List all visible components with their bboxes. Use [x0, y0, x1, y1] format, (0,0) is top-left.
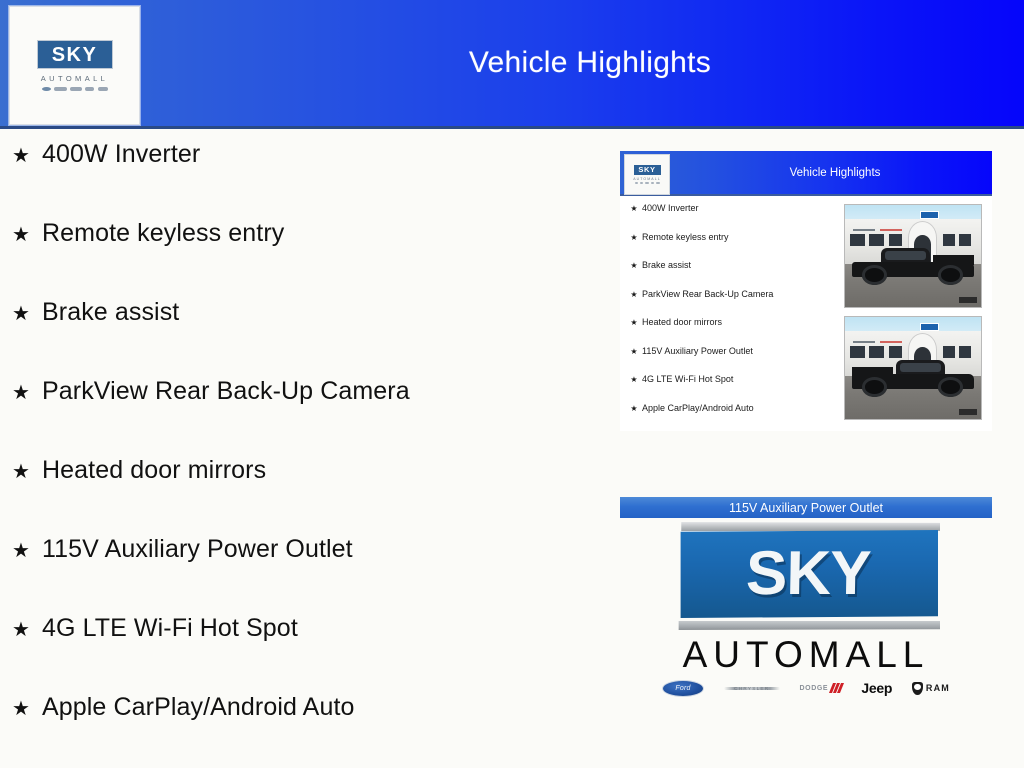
list-item-label: Apple CarPlay/Android Auto: [642, 403, 754, 413]
star-bullet-icon: ★: [626, 290, 642, 299]
vehicle-photo-rear-side-view[interactable]: [844, 316, 982, 420]
list-item: ★ 4G LTE Wi-Fi Hot Spot: [626, 374, 846, 403]
list-item-label: 115V Auxiliary Power Outlet: [642, 346, 753, 356]
star-bullet-icon: ★: [626, 375, 642, 384]
dealership-sky-sign-icon: [920, 211, 939, 219]
sign-top-rail: [676, 522, 940, 531]
list-item-label: 115V Auxiliary Power Outlet: [42, 535, 353, 564]
list-item: ★ Apple CarPlay/Android Auto: [0, 693, 600, 772]
feature-callout-panel: 115V Auxiliary Power Outlet SKY AUTOMALL…: [620, 497, 992, 696]
brand-badge-ford: Ford: [662, 680, 704, 696]
star-bullet-icon: ★: [0, 462, 42, 482]
building-window: [889, 234, 903, 246]
list-item: ★ 115V Auxiliary Power Outlet: [0, 535, 600, 614]
pickup-truck: [852, 362, 974, 399]
list-item-label: Remote keyless entry: [642, 232, 729, 242]
building-window: [850, 234, 865, 246]
thumbnail-highlights-list: ★ 400W Inverter ★ Remote keyless entry ★…: [626, 203, 846, 431]
ram-wordmark: RAM: [926, 683, 950, 693]
list-item-label: Brake assist: [42, 298, 179, 327]
sky-wordmark: SKY: [634, 165, 661, 175]
building-window: [959, 346, 971, 358]
list-item-label: Heated door mirrors: [642, 317, 722, 327]
ram-head-icon: [912, 682, 923, 695]
list-item-label: 400W Inverter: [642, 203, 699, 213]
automall-wordmark: AUTOMALL: [633, 177, 661, 181]
list-item-label: 4G LTE Wi-Fi Hot Spot: [42, 614, 298, 643]
thumbnail-title: Vehicle Highlights: [690, 151, 980, 194]
building-sign-strip: [880, 229, 902, 232]
dodge-stripes-icon: [829, 683, 844, 693]
jeep-logo-icon: Jeep: [861, 680, 892, 696]
automall-wordmark: AUTOMALL: [683, 636, 930, 673]
building-window: [889, 346, 903, 358]
list-item: ★ Apple CarPlay/Android Auto: [626, 403, 846, 432]
star-bullet-icon: ★: [626, 204, 642, 213]
building-sign-strip: [880, 341, 902, 344]
brand-badges-row: Ford CHRYSLER DODGE Jeep: [662, 680, 950, 696]
building-window: [869, 234, 884, 246]
brand-badge-ram: RAM: [912, 680, 950, 696]
ram-logo-icon: RAM: [912, 682, 950, 695]
list-item: ★ ParkView Rear Back-Up Camera: [626, 289, 846, 318]
list-item-label: ParkView Rear Back-Up Camera: [42, 377, 410, 406]
building-sign-strip: [853, 341, 875, 344]
brand-badges-strip-icon: [635, 182, 660, 184]
sky-automall-sign: SKY: [676, 522, 940, 630]
chrysler-logo-icon: CHRYSLER: [724, 684, 780, 693]
list-item-label: Heated door mirrors: [42, 456, 266, 485]
list-item-label: Remote keyless entry: [42, 219, 284, 248]
list-item: ★ 400W Inverter: [0, 140, 600, 219]
list-item: ★ Heated door mirrors: [0, 456, 600, 535]
star-bullet-icon: ★: [0, 383, 42, 403]
automall-wordmark: AUTOMALL: [41, 74, 109, 83]
building-window: [959, 234, 971, 246]
star-bullet-icon: ★: [626, 261, 642, 270]
brand-badge-chrysler: CHRYSLER: [724, 680, 780, 696]
slide-header: SKY AUTOMALL Vehicle Highlights: [0, 0, 1024, 129]
star-bullet-icon: ★: [0, 225, 42, 245]
star-bullet-icon: ★: [0, 541, 42, 561]
vehicle-highlights-list: ★ 400W Inverter ★ Remote keyless entry ★…: [0, 140, 600, 772]
thumbnail-dealer-logo-card: SKY AUTOMALL: [624, 154, 670, 195]
dealer-logo-card: SKY AUTOMALL: [9, 6, 140, 125]
star-bullet-icon: ★: [626, 233, 642, 242]
truck-wheel: [862, 377, 888, 397]
dodge-logo-icon: DODGE: [800, 683, 842, 693]
building-window: [943, 234, 955, 246]
chrysler-wordmark: CHRYSLER: [734, 686, 769, 691]
list-item-label: 400W Inverter: [42, 140, 200, 169]
list-item-label: Brake assist: [642, 260, 691, 270]
star-bullet-icon: ★: [0, 620, 42, 640]
sky-wordmark: SKY: [37, 40, 113, 69]
list-item: ★ ParkView Rear Back-Up Camera: [0, 377, 600, 456]
list-item: ★ 400W Inverter: [626, 203, 846, 232]
truck-wheel: [862, 265, 888, 285]
building-sign-strip: [853, 229, 875, 232]
brand-badges-strip-icon: [42, 86, 108, 91]
vehicle-photo-side-view[interactable]: [844, 204, 982, 308]
list-item-label: 4G LTE Wi-Fi Hot Spot: [642, 374, 733, 384]
truck-wheel: [938, 377, 964, 397]
star-bullet-icon: ★: [0, 146, 42, 166]
slide-thumbnail-preview[interactable]: SKY AUTOMALL Vehicle Highlights ★ 400W I…: [620, 151, 992, 431]
photo-watermark: [959, 297, 977, 303]
sign-bottom-rail: [676, 621, 940, 630]
building-window: [850, 346, 865, 358]
star-bullet-icon: ★: [626, 318, 642, 327]
dealer-brand-block: SKY AUTOMALL Ford CHRYSLER DODGE: [620, 522, 992, 696]
star-bullet-icon: ★: [0, 699, 42, 719]
sky-wordmark: SKY: [745, 543, 871, 605]
sign-face: SKY: [678, 530, 938, 618]
list-item: ★ 115V Auxiliary Power Outlet: [626, 346, 846, 375]
list-item: ★ Remote keyless entry: [626, 232, 846, 261]
pickup-truck: [852, 250, 974, 287]
dodge-wordmark: DODGE: [800, 685, 829, 692]
truck-wheel: [938, 265, 964, 285]
brand-badge-jeep: Jeep: [861, 680, 892, 696]
list-item: ★ Heated door mirrors: [626, 317, 846, 346]
ford-logo-icon: Ford: [662, 680, 704, 697]
list-item: ★ Brake assist: [0, 298, 600, 377]
list-item: ★ Remote keyless entry: [0, 219, 600, 298]
building-window: [943, 346, 955, 358]
list-item: ★ Brake assist: [626, 260, 846, 289]
feature-banner-label: 115V Auxiliary Power Outlet: [620, 497, 992, 518]
list-item-label: ParkView Rear Back-Up Camera: [642, 289, 773, 299]
dealership-sky-sign-icon: [920, 323, 939, 331]
star-bullet-icon: ★: [0, 304, 42, 324]
list-item-label: Apple CarPlay/Android Auto: [42, 693, 355, 722]
brand-badge-dodge: DODGE: [800, 680, 842, 696]
star-bullet-icon: ★: [626, 347, 642, 356]
slide-title: Vehicle Highlights: [200, 0, 980, 126]
list-item: ★ 4G LTE Wi-Fi Hot Spot: [0, 614, 600, 693]
star-bullet-icon: ★: [626, 404, 642, 413]
thumbnail-header: SKY AUTOMALL Vehicle Highlights: [620, 151, 992, 196]
photo-watermark: [959, 409, 977, 415]
building-window: [869, 346, 884, 358]
